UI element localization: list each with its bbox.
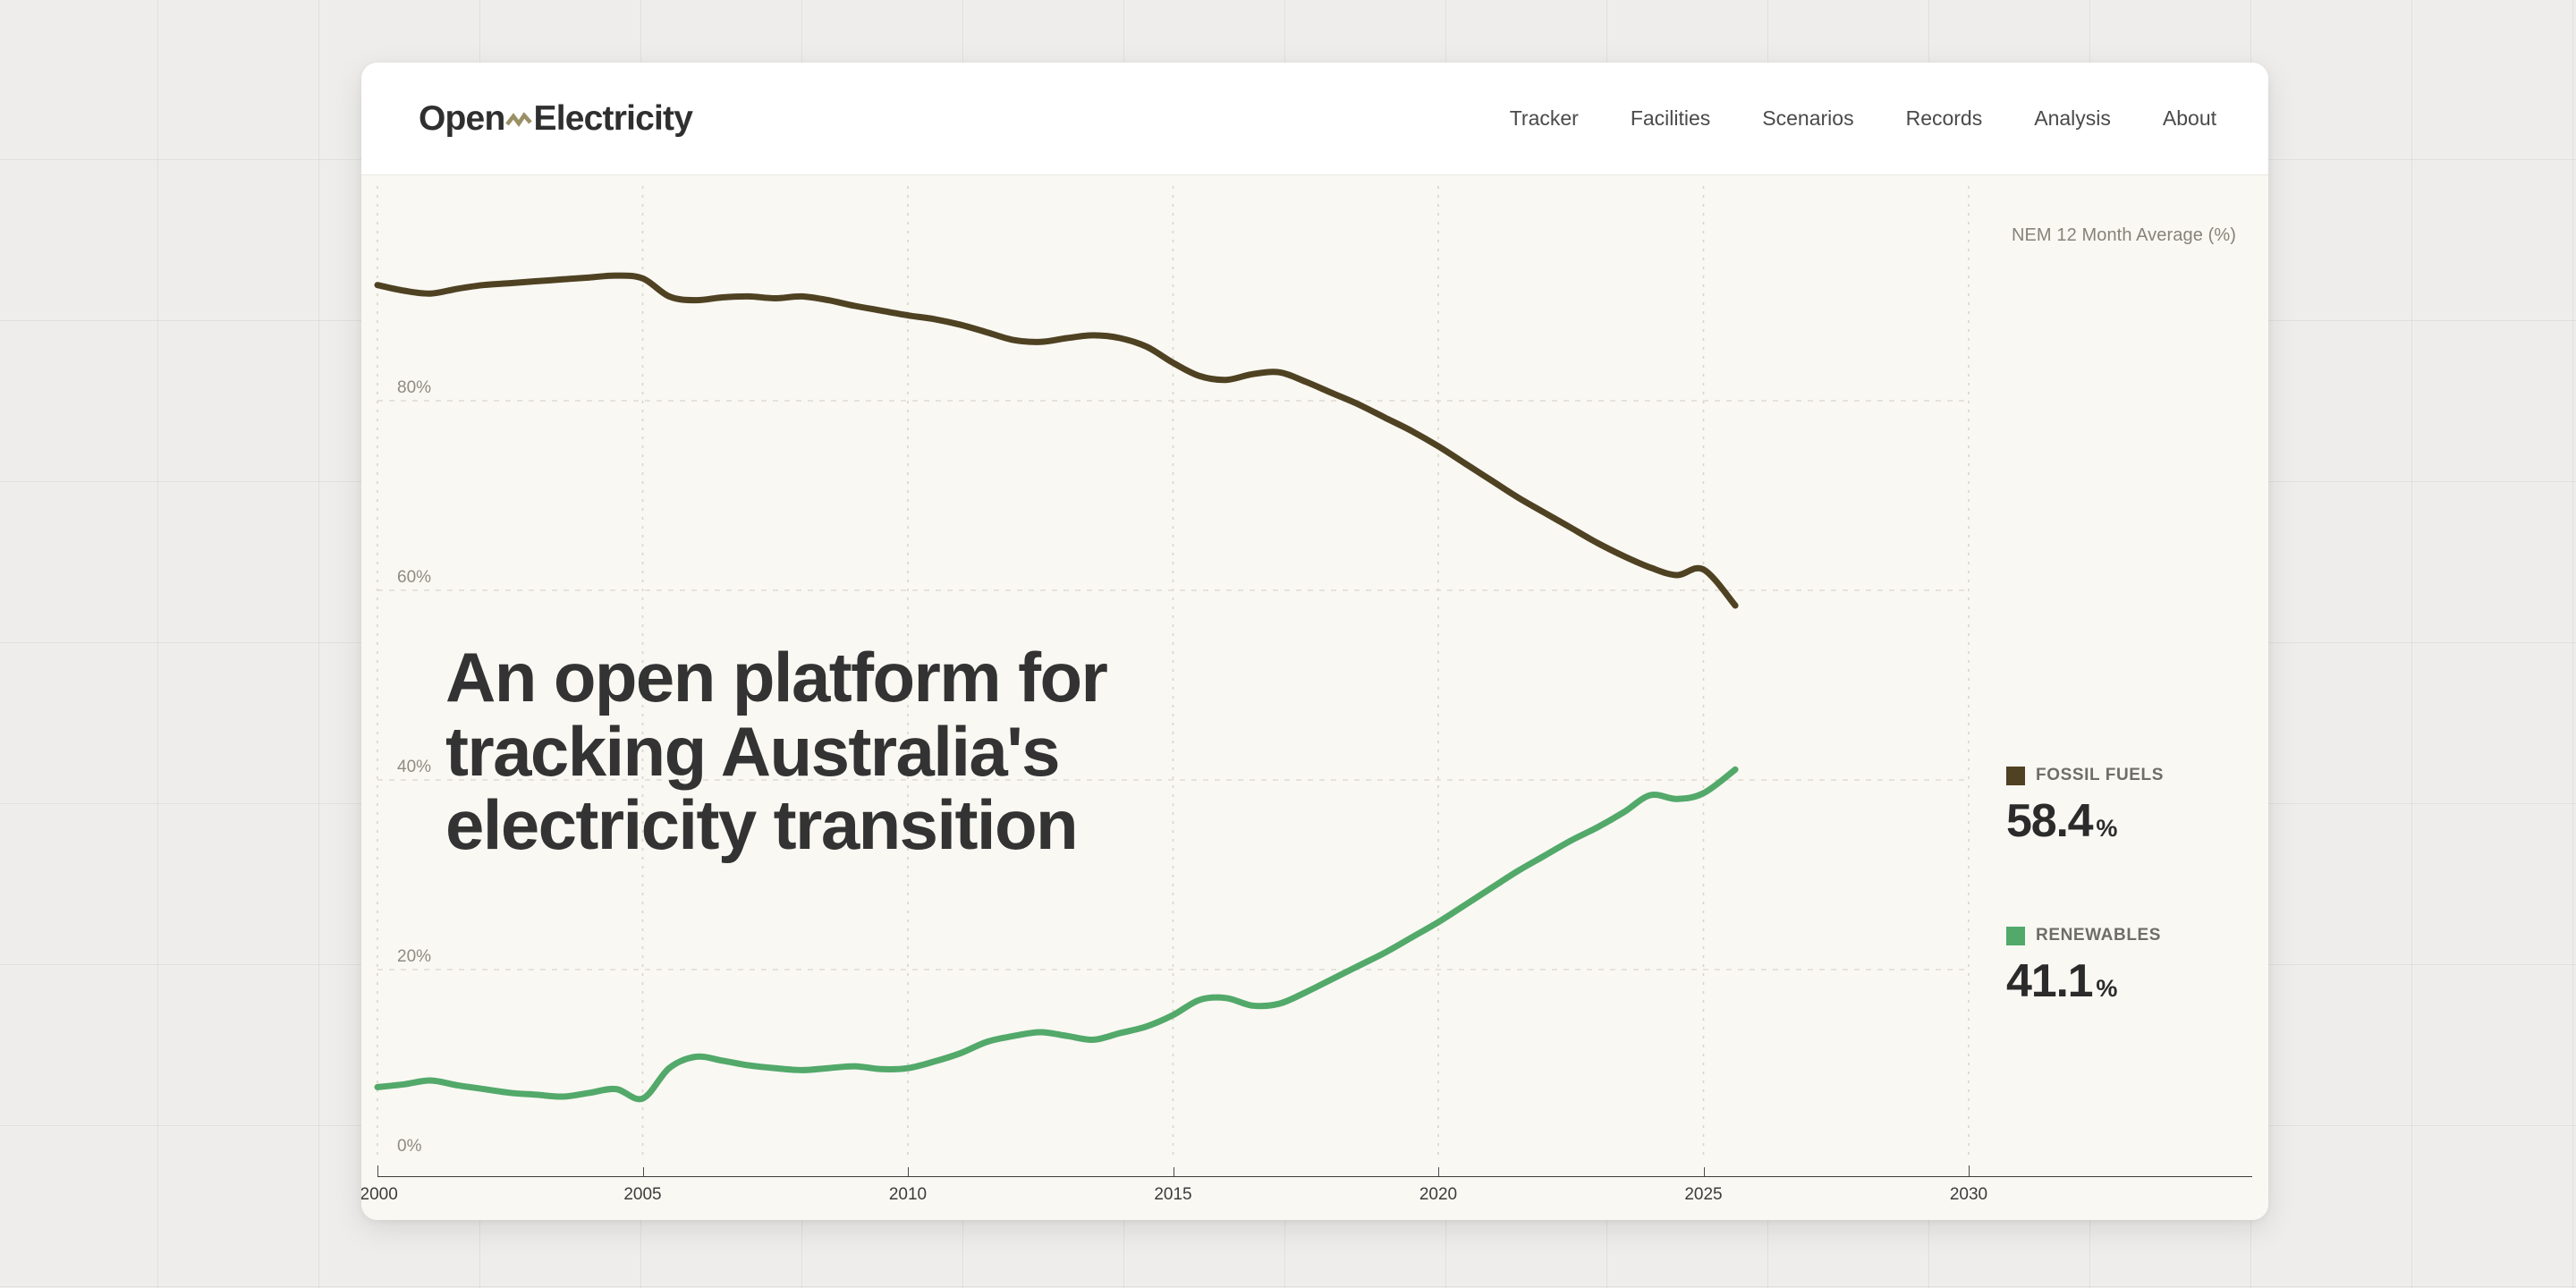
- x-axis-label-2005: 2005: [623, 1185, 661, 1205]
- series-line-fossil-fuels: [377, 275, 1735, 606]
- series-value-renewables: 41.1 %: [2006, 954, 2161, 1008]
- y-axis-label-80: 80%: [397, 378, 431, 401]
- series-name-renewables: RENEWABLES: [2036, 926, 2161, 945]
- brand-name-open: Open: [419, 99, 504, 139]
- x-axis-label-2010: 2010: [889, 1185, 927, 1205]
- x-axis-tick-2010: [908, 1167, 909, 1176]
- nav-item-about[interactable]: About: [2137, 97, 2222, 140]
- nav-item-records[interactable]: Records: [1880, 97, 2009, 140]
- series-value-number-fossil-fuels: 58.4: [2006, 794, 2092, 848]
- nav-item-scenarios[interactable]: Scenarios: [1736, 97, 1879, 140]
- nav-item-analysis[interactable]: Analysis: [2008, 97, 2137, 140]
- x-axis-tick-2030: [1969, 1165, 1970, 1176]
- x-axis-tick-2000: [377, 1165, 378, 1176]
- x-axis-tick-2020: [1438, 1167, 1439, 1176]
- nav-item-facilities[interactable]: Facilities: [1605, 97, 1736, 140]
- x-axis-tick-2015: [1174, 1167, 1174, 1176]
- series-header-fossil-fuels: FOSSIL FUELS: [2006, 766, 2164, 785]
- hero-card: Open Electricity Tracker Facilities Scen…: [361, 63, 2268, 1220]
- x-axis-label-2020: 2020: [1419, 1185, 1457, 1205]
- series-name-fossil-fuels: FOSSIL FUELS: [2036, 766, 2164, 785]
- y-axis-label-0: 0%: [397, 1137, 421, 1159]
- x-axis-label-2015: 2015: [1154, 1185, 1191, 1205]
- x-axis-label-2000: 2000: [361, 1185, 398, 1205]
- series-header-renewables: RENEWABLES: [2006, 926, 2161, 945]
- x-axis-tick-2005: [643, 1167, 644, 1176]
- series-callout-fossil-fuels: FOSSIL FUELS 58.4 %: [2006, 766, 2164, 848]
- series-value-number-renewables: 41.1: [2006, 954, 2092, 1008]
- series-value-unit-renewables: %: [2096, 975, 2117, 1003]
- brand-name-electricity: Electricity: [533, 99, 692, 139]
- nav-item-tracker[interactable]: Tracker: [1484, 97, 1605, 140]
- site-header: Open Electricity Tracker Facilities Scen…: [361, 63, 2268, 175]
- zigzag-lightning-icon: [505, 112, 532, 131]
- chart-panel: NEM 12 Month Average (%) 0%20%40%60%80% …: [361, 175, 2268, 1220]
- x-axis-label-2025: 2025: [1684, 1185, 1722, 1205]
- brand-logo[interactable]: Open Electricity: [419, 99, 692, 139]
- x-axis-tick-2025: [1704, 1167, 1705, 1176]
- y-axis-label-60: 60%: [397, 568, 431, 590]
- series-swatch-fossil-fuels: [2006, 767, 2025, 785]
- main-nav: Tracker Facilities Scenarios Records Ana…: [1484, 97, 2222, 140]
- chart-caption: NEM 12 Month Average (%): [2012, 225, 2236, 246]
- series-value-fossil-fuels: 58.4 %: [2006, 794, 2164, 848]
- page-title: An open platform for tracking Australia'…: [445, 640, 1340, 862]
- y-axis-label-20: 20%: [397, 947, 431, 970]
- x-axis: 2000200520102015202020252030: [377, 1176, 2252, 1177]
- series-callout-renewables: RENEWABLES 41.1 %: [2006, 926, 2161, 1008]
- x-axis-label-2030: 2030: [1950, 1185, 1987, 1205]
- series-swatch-renewables: [2006, 927, 2025, 945]
- y-axis-label-40: 40%: [397, 758, 431, 780]
- series-value-unit-fossil-fuels: %: [2096, 815, 2117, 843]
